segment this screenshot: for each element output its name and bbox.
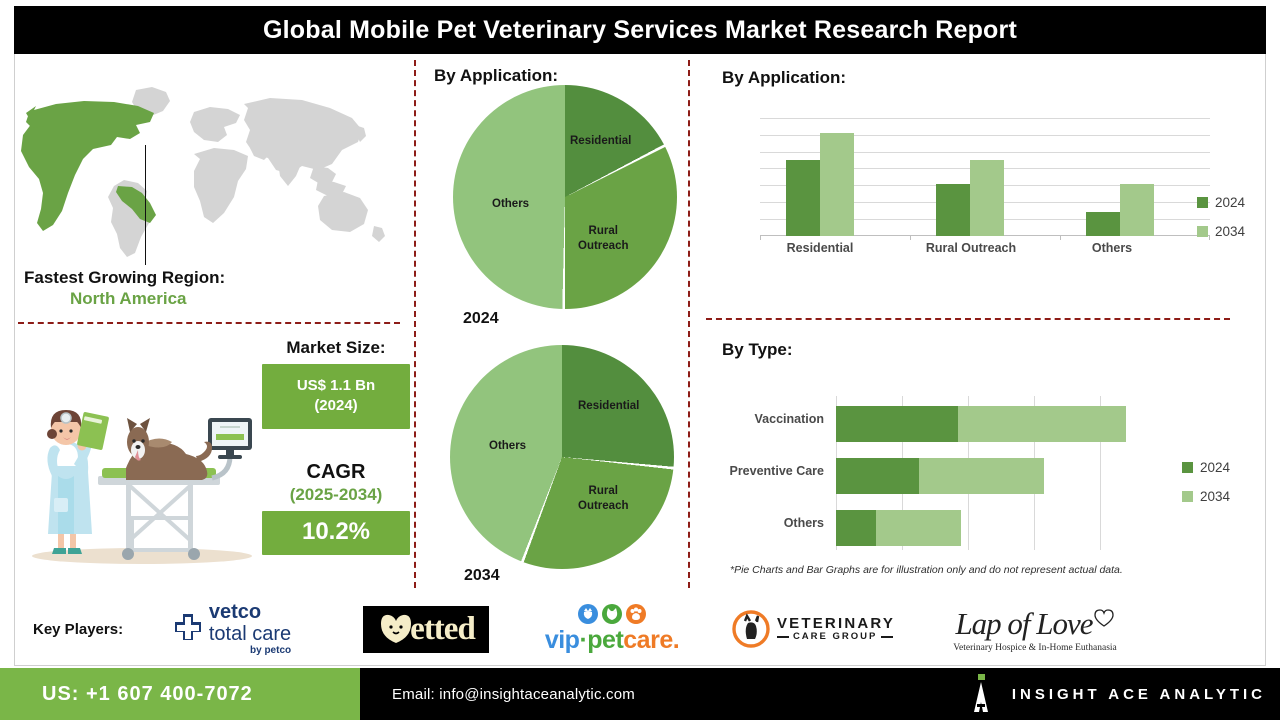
type-bar-preventive-2024 [836, 458, 919, 494]
type-bar-others-2024 [836, 510, 876, 546]
pie-2024-label-rural: RuralOutreach [578, 224, 629, 254]
logo-vetted: etted [331, 606, 521, 653]
legend-item-2034: 2034 [1197, 224, 1245, 239]
column-bar-others-2034 [1120, 184, 1154, 236]
infographic-page: Global Mobile Pet Veterinary Services Ma… [0, 0, 1280, 720]
column-bar-residential-2024 [786, 160, 820, 236]
market-size-value: US$ 1.1 Bn [266, 376, 406, 396]
logo-lap-of-love: Lap of Love Veterinary Hospice & In-Home… [925, 606, 1145, 653]
insight-ace-logo-icon [966, 672, 996, 716]
pie-chart-2024 [453, 85, 677, 309]
pie-chart-2034 [450, 345, 674, 569]
legend-swatch-2024 [1182, 462, 1193, 473]
footer-brand-name: INSIGHT ACE ANALYTIC [1012, 686, 1266, 703]
pie-2024-year: 2024 [463, 310, 499, 328]
vcg-line2: CARE GROUP [793, 632, 877, 642]
page-title: Global Mobile Pet Veterinary Services Ma… [263, 16, 1017, 45]
chart-disclaimer: *Pie Charts and Bar Graphs are for illus… [730, 564, 1250, 576]
column-chart [760, 118, 1210, 236]
type-category-vaccination: Vaccination [676, 412, 824, 426]
axis-tick [910, 235, 911, 240]
type-bar-vaccination-2024 [836, 406, 958, 442]
vetco-line2: total care [209, 624, 291, 644]
legend-swatch-2034 [1197, 226, 1208, 237]
legend-item-2024: 2024 [1182, 460, 1230, 475]
column-chart-legend: 2024 2034 [1197, 195, 1245, 253]
market-size-value-box: US$ 1.1 Bn (2024) [262, 364, 410, 429]
type-bar-row-others [836, 510, 1166, 546]
lap-of-love-name: Lap of Love [955, 606, 1092, 642]
heart-icon [1093, 608, 1115, 628]
legend-label-2024: 2024 [1200, 460, 1230, 475]
legend-label-2034: 2034 [1200, 489, 1230, 504]
legend-item-2034: 2034 [1182, 489, 1230, 504]
market-size-block: Market Size: US$ 1.1 Bn (2024) CAGR (202… [262, 338, 410, 555]
column-bar-rural-2024 [936, 184, 970, 236]
cross-icon [171, 612, 205, 646]
divider-vertical-left [414, 60, 416, 588]
legend-swatch-2034 [1182, 491, 1193, 502]
legend-item-2024: 2024 [1197, 195, 1245, 210]
column-category-others: Others [1065, 241, 1159, 255]
divider-vertical-right [688, 60, 690, 588]
column-bar-others-2024 [1086, 212, 1120, 236]
type-category-preventive: Preventive Care [666, 464, 824, 478]
map-leader-line [145, 145, 146, 265]
logo-vip-petcare: vip·petcare. [527, 604, 697, 655]
type-chart-legend: 2024 2034 [1182, 460, 1230, 518]
pie-2024-label-others: Others [492, 197, 529, 212]
header-bar: Global Mobile Pet Veterinary Services Ma… [14, 6, 1266, 54]
type-bar-preventive-2034 [919, 458, 1044, 494]
type-bar-vaccination-2034 [958, 406, 1126, 442]
lap-of-love-tagline: Veterinary Hospice & In-Home Euthanasia [953, 643, 1117, 653]
key-players-row: Key Players: vetco total care by petco [15, 594, 1265, 664]
vcg-line1: VETERINARY [777, 616, 895, 633]
veterinarian-illustration [22, 358, 254, 580]
cat-badge-icon [602, 604, 622, 624]
type-bar-row-preventive [836, 458, 1166, 494]
gridline [760, 118, 1210, 119]
key-players-label: Key Players: [33, 621, 141, 638]
legend-swatch-2024 [1197, 197, 1208, 208]
column-category-residential: Residential [760, 241, 880, 255]
type-chart [836, 396, 1166, 550]
pie-2034-year: 2034 [464, 567, 500, 585]
pie-2024-label-residential: Residential [570, 134, 631, 149]
pie-2034-label-others: Others [489, 439, 526, 454]
legend-label-2034: 2034 [1215, 224, 1245, 239]
dog-badge-icon [578, 604, 598, 624]
logo-veterinary-care-group: VETERINARY CARE GROUP [713, 609, 913, 649]
footer-brand: INSIGHT ACE ANALYTIC [966, 672, 1266, 716]
north-america-highlight [21, 101, 156, 231]
world-map [18, 82, 408, 262]
vetco-line1: vetco [209, 602, 291, 622]
vip-petcare-text: vip·petcare. [545, 626, 679, 655]
cagr-title: CAGR [262, 461, 410, 484]
pie-2034-label-residential: Residential [578, 399, 639, 414]
type-bar-row-vaccination [836, 406, 1166, 442]
axis-tick [1060, 235, 1061, 240]
logo-vetco-total-care: vetco total care by petco [141, 602, 321, 656]
column-chart-title: By Application: [722, 68, 846, 88]
paw-badge-icon [626, 604, 646, 624]
column-category-rural: Rural Outreach [906, 241, 1036, 255]
divider-horizontal-right [706, 318, 1230, 320]
fastest-growing-region: Fastest Growing Region: North America [24, 268, 404, 310]
divider-horizontal-left [18, 322, 400, 324]
dog-circle-icon [731, 609, 771, 649]
column-bar-residential-2034 [820, 133, 854, 236]
type-category-others: Others [676, 516, 824, 530]
type-bar-others-2034 [876, 510, 961, 546]
cagr-years: (2025-2034) [262, 484, 410, 506]
pie-section-title: By Application: [434, 66, 558, 86]
pie-2034-label-rural: RuralOutreach [578, 484, 629, 514]
footer-bar: US: +1 607 400-7072 Email: info@insighta… [0, 668, 1280, 720]
region-title: Fastest Growing Region: [24, 268, 404, 288]
column-bar-rural-2034 [970, 160, 1004, 236]
cagr-value-box: 10.2% [262, 511, 410, 555]
axis-tick [760, 235, 761, 240]
vetco-line3: by petco [209, 646, 291, 656]
vetted-text: etted [410, 611, 475, 648]
market-size-title: Market Size: [262, 338, 410, 358]
footer-phone-block: US: +1 607 400-7072 [0, 668, 360, 720]
type-chart-title: By Type: [722, 340, 793, 360]
region-value: North America [24, 288, 404, 310]
market-size-year: (2024) [266, 396, 406, 416]
footer-phone: US: +1 607 400-7072 [42, 683, 253, 706]
footer-email: Email: info@insightaceanalytic.com [392, 686, 635, 703]
legend-label-2024: 2024 [1215, 195, 1245, 210]
